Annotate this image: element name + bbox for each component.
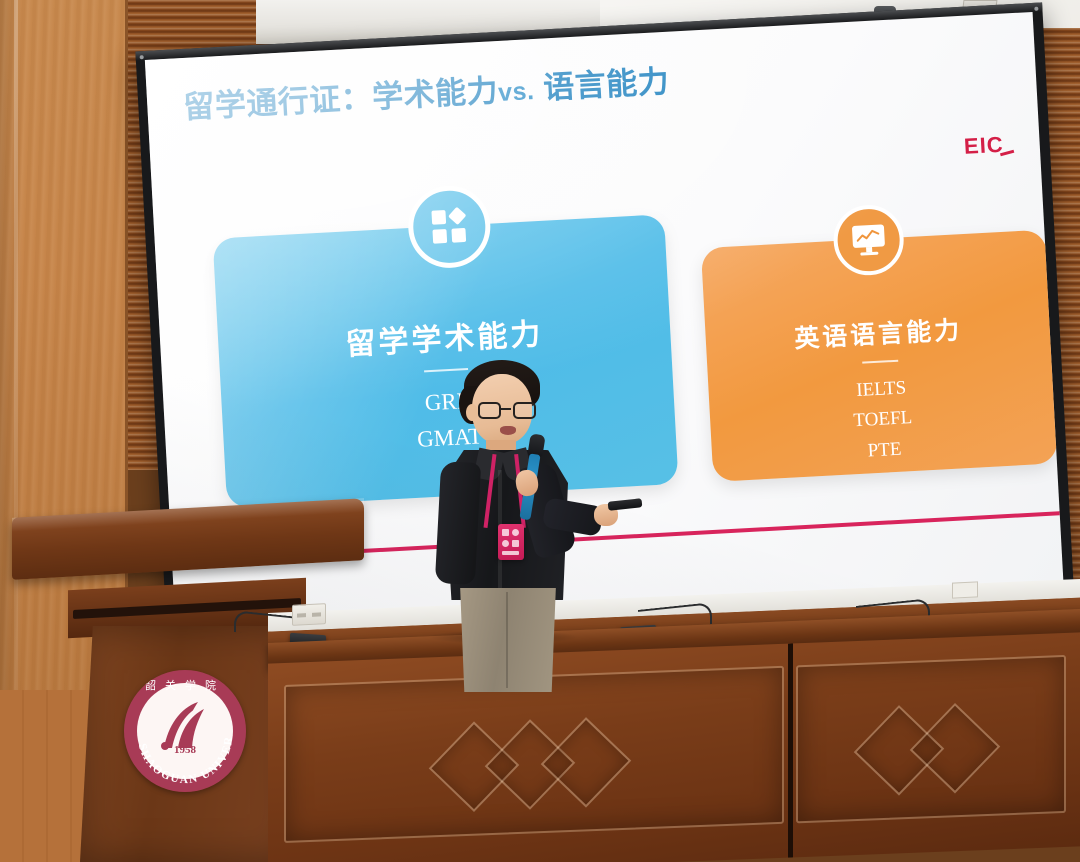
apps-square-1 (431, 210, 446, 225)
rhombus-motif-row (798, 709, 1064, 789)
trouser-seam (506, 592, 508, 688)
rhombus-motif (541, 717, 632, 808)
slide-title: 留学通行证：学术能力vs. 语言能力 (182, 56, 670, 127)
glasses-lens-left (478, 402, 501, 419)
badge-mark (512, 529, 519, 536)
apps-square-3 (432, 229, 447, 244)
presenter (420, 352, 630, 652)
monitor-chart-icon (832, 203, 906, 277)
glasses-lens-right (513, 402, 536, 419)
wall-power-outlet[interactable] (292, 603, 326, 626)
lecture-hall-scene: 留学通行证：学术能力vs. 语言能力 EIC 留学学术能力 (0, 0, 1080, 862)
monitor-chart-glyph (852, 224, 886, 256)
frame-screw (1034, 7, 1038, 11)
eic-brand-logo: EIC (963, 132, 1004, 160)
badge-mark (502, 540, 509, 547)
slide-title-tail: 语言能力 (542, 64, 670, 106)
rhombus-motif-row (286, 720, 782, 809)
rhombus-motif (910, 703, 1001, 794)
slide-title-vs: vs. (497, 77, 535, 107)
chart-line (856, 229, 881, 244)
id-badge (498, 524, 524, 560)
card-divider (862, 360, 898, 364)
apps-square-4 (451, 228, 466, 243)
badge-mark (502, 529, 509, 536)
table-front-panel (268, 632, 1080, 862)
card-language-title: 英语语言能力 (705, 305, 1051, 360)
shaoguan-university-emblem: 韶关学院 1958 SHAOGUAN UNIVERSITY (124, 670, 246, 792)
presenter-mouth (500, 426, 516, 435)
table-panel-seam (788, 643, 793, 857)
lectern-top-surface (12, 498, 364, 580)
svg-text:SHAOGUAN UNIVERSITY: SHAOGUAN UNIVERSITY (124, 670, 235, 786)
badge-mark (512, 540, 519, 547)
monitor-base (860, 252, 878, 256)
card-language-ability: 英语语言能力 IELTS TOEFL PTE (701, 230, 1058, 482)
apps-grid-glyph (431, 209, 467, 245)
badge-mark (502, 551, 519, 555)
apps-grid-icon (406, 184, 492, 270)
table-carved-panel (796, 655, 1066, 823)
outlet-slot (297, 613, 306, 617)
outlet-slot (312, 612, 321, 616)
presenter-trousers (456, 588, 560, 692)
conference-table (268, 596, 1080, 862)
glasses-icon (476, 402, 536, 419)
apps-diamond-2 (448, 207, 466, 225)
slide-title-main: 留学通行证：学术能力 (183, 73, 499, 125)
table-carved-panel (284, 666, 784, 843)
card-language-items: IELTS TOEFL PTE (708, 365, 1057, 475)
glasses-bridge (501, 408, 511, 410)
wall-power-outlet[interactable] (952, 581, 978, 598)
presenter-arm-left (435, 461, 481, 585)
frame-screw (140, 55, 144, 59)
emblem-english-name: SHAOGUAN UNIVERSITY (124, 670, 246, 792)
